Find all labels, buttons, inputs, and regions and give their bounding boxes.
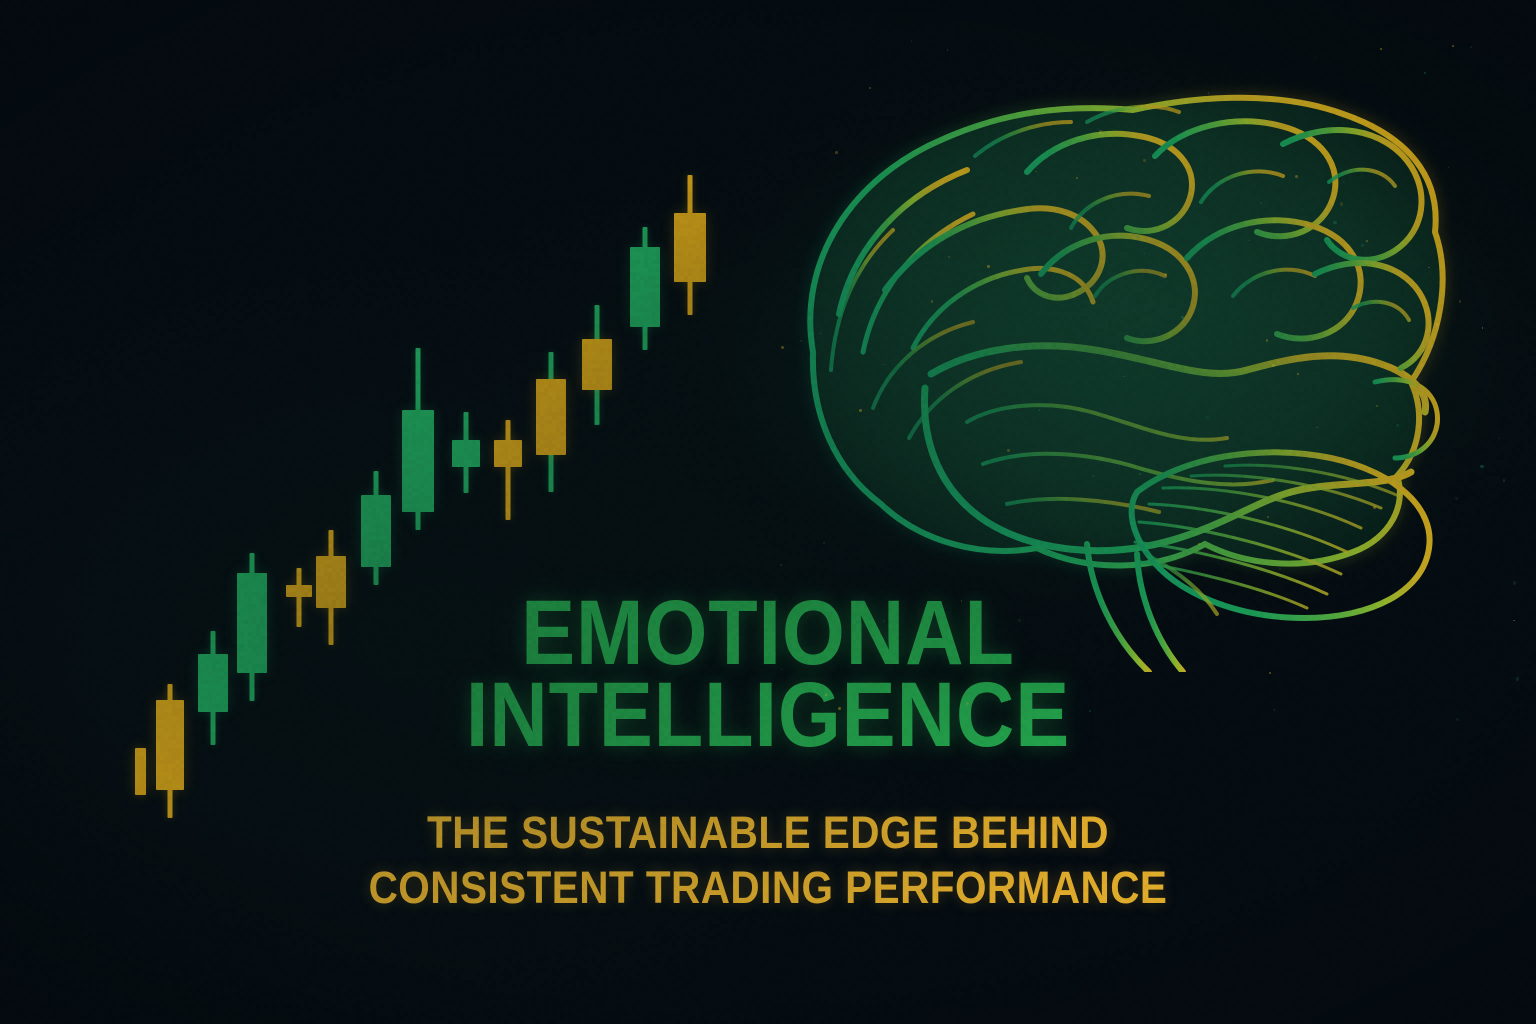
candlestick-14	[674, 175, 706, 315]
page-title-line-2: INTELLIGENCE	[92, 674, 1444, 756]
candlestick-10	[494, 420, 522, 520]
background-speckle	[1513, 581, 1516, 584]
candle-body	[582, 339, 612, 390]
candle-body	[452, 440, 480, 467]
page-title-line-1: EMOTIONAL	[92, 592, 1444, 674]
subtitle-block: THE SUSTAINABLE EDGE BEHIND CONSISTENT T…	[0, 805, 1536, 915]
background-speckle	[1498, 438, 1500, 440]
candle-body	[536, 379, 566, 455]
background-speckle	[1480, 465, 1483, 468]
background-speckle	[911, 40, 912, 41]
candle-body	[630, 247, 660, 327]
candlestick-8	[402, 348, 434, 530]
candle-body	[674, 213, 706, 282]
background-speckle	[1503, 479, 1505, 481]
subtitle-line-1: THE SUSTAINABLE EDGE BEHIND	[77, 805, 1459, 860]
background-speckle	[1482, 327, 1484, 329]
candle-body	[402, 410, 434, 512]
candlestick-11	[536, 352, 566, 492]
candlestick-12	[582, 305, 612, 425]
candlestick-13	[630, 227, 660, 350]
background-speckle	[947, 49, 949, 51]
poster-canvas: EMOTIONAL INTELLIGENCE THE SUSTAINABLE E…	[0, 0, 1536, 1024]
background-speckle	[1452, 45, 1454, 47]
candlestick-9	[452, 412, 480, 493]
title-block: EMOTIONAL INTELLIGENCE	[0, 592, 1536, 756]
subtitle-line-2: CONSISTENT TRADING PERFORMANCE	[77, 860, 1459, 915]
background-speckle	[1470, 46, 1472, 48]
candle-body	[494, 440, 522, 467]
candle-body	[361, 495, 391, 567]
candlestick-7	[361, 471, 391, 585]
candle-wick	[506, 420, 511, 520]
background-speckle	[1380, 48, 1382, 50]
brain-illustration	[735, 52, 1475, 672]
